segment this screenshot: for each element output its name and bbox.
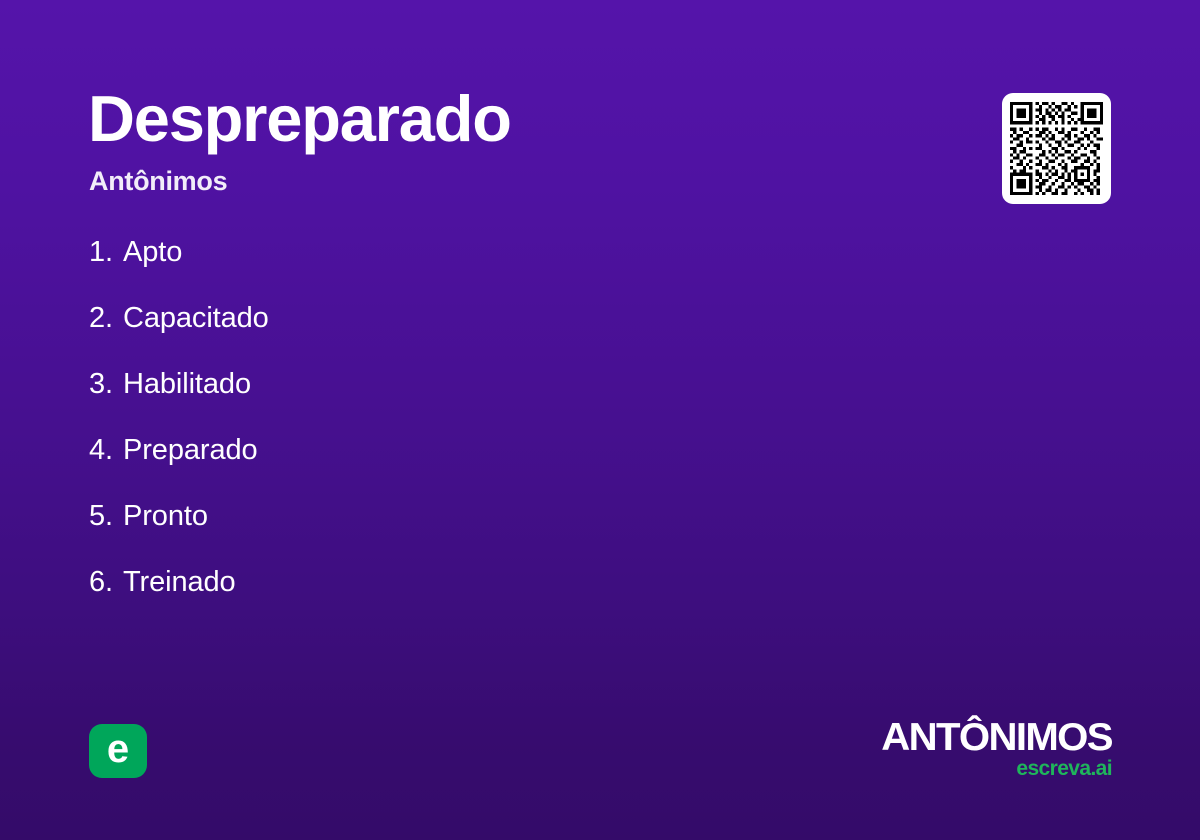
escreva-logo-badge[interactable]: e (89, 724, 147, 778)
footer-logo-title: ANTÔNIMOS (881, 720, 1112, 756)
list-item-number: 4. (89, 436, 123, 465)
qr-code-icon (1010, 102, 1103, 195)
list-item-label: Apto (123, 238, 182, 267)
qr-code-container[interactable] (1002, 93, 1111, 204)
list-item-label: Habilitado (123, 370, 251, 399)
footer-logo-domain: escreva.ai (888, 758, 1112, 779)
list-item-label: Pronto (123, 502, 208, 531)
list-item-number: 1. (89, 238, 123, 267)
page-title: Despreparado (88, 86, 511, 151)
list-item-label: Capacitado (123, 304, 269, 333)
list-item: 4. Preparado (89, 436, 789, 502)
list-item: 1. Apto (89, 238, 789, 304)
antonym-card: Despreparado Antônimos (0, 0, 1200, 840)
brand-letter-e: e (107, 729, 129, 769)
list-item-number: 6. (89, 568, 123, 597)
list-item-number: 3. (89, 370, 123, 399)
list-item-label: Treinado (123, 568, 236, 597)
list-item-number: 5. (89, 502, 123, 531)
antonym-list: 1. Apto 2. Capacitado 3. Habilitado 4. P… (89, 238, 789, 634)
list-item: 5. Pronto (89, 502, 789, 568)
list-item: 6. Treinado (89, 568, 789, 634)
list-item: 3. Habilitado (89, 370, 789, 436)
list-item-number: 2. (89, 304, 123, 333)
footer-brand-logo: ANTÔNIMOS escreva.ai (888, 720, 1112, 779)
list-item-label: Preparado (123, 436, 258, 465)
page-subtitle: Antônimos (89, 168, 227, 195)
list-item: 2. Capacitado (89, 304, 789, 370)
